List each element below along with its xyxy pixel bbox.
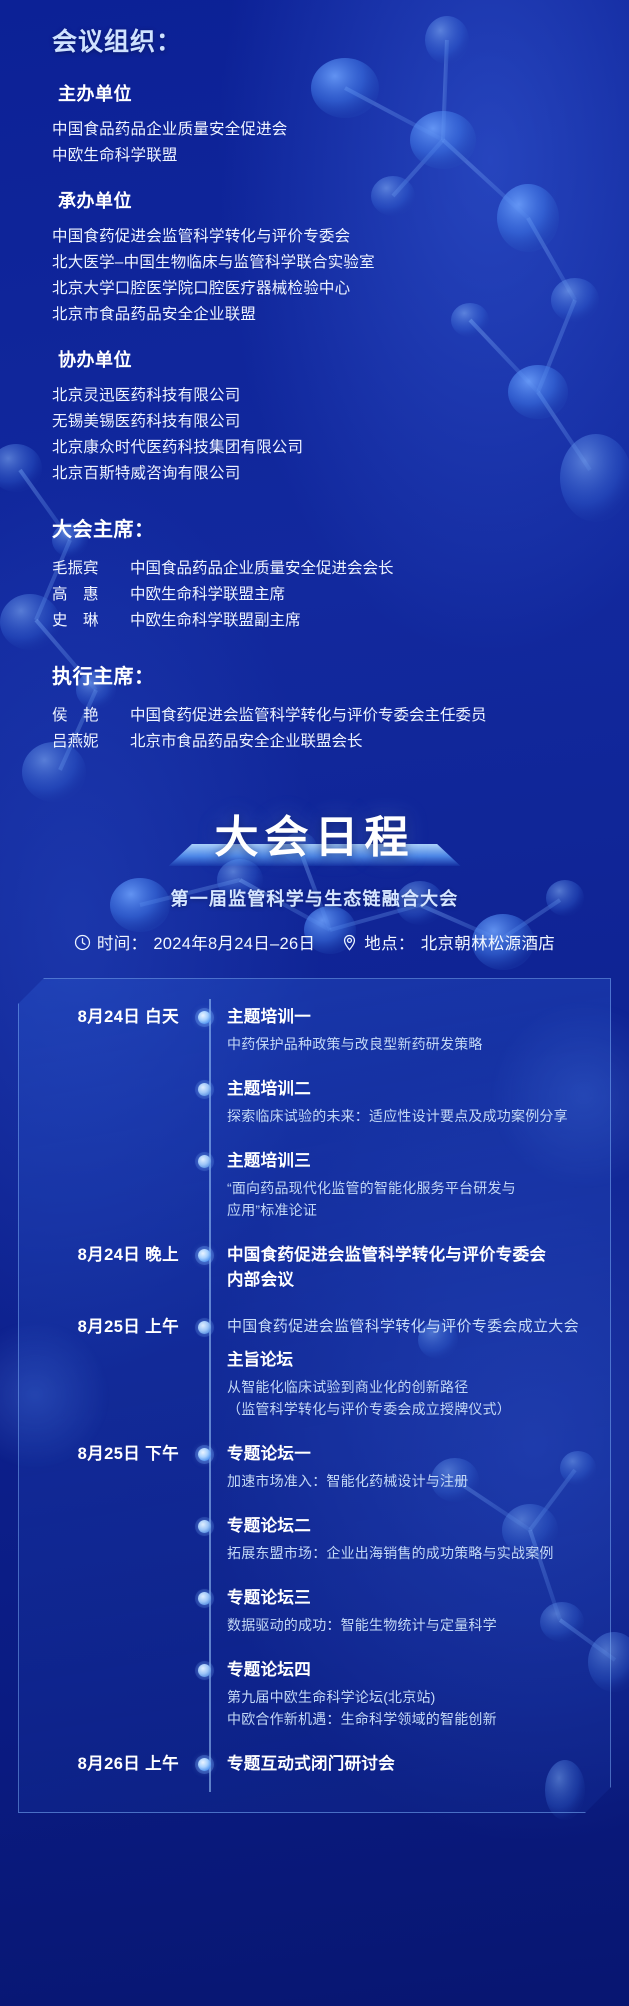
list-item: 北大医学–中国生物临床与监管科学联合实验室 <box>52 250 629 276</box>
list-item: 中欧生命科学联盟 <box>52 143 629 169</box>
timeline-when: 8月26日 上午 <box>19 1752 191 1776</box>
organization-group-organizer: 承办单位 中国食药促进会监管科学转化与评价专委会 北大医学–中国生物临床与监管科… <box>0 187 629 328</box>
timeline-row: 8月25日 上午 中国食药促进会监管科学转化与评价专委会成立大会 主旨论坛 从智… <box>19 1315 594 1420</box>
timeline-body: 专题论坛一 加速市场准入：智能化药械设计与注册 <box>217 1442 594 1492</box>
location-pin-icon <box>341 934 358 951</box>
timeline-topic: 主题培训二 <box>227 1077 590 1102</box>
schedule-hero-section: 大会日程 第一届监管科学与生态链融合大会 时间： 2024年8月24日–26日 <box>0 813 629 954</box>
timeline-desc: 数据驱动的成功：智能生物统计与定量科学 <box>227 1614 590 1636</box>
timeline-dot-col <box>191 1586 217 1605</box>
timeline-row: 专题论坛四 第九届中欧生命科学论坛(北京站) 中欧合作新机遇：生命科学领域的智能… <box>19 1658 594 1730</box>
timeline-dot-icon <box>198 1083 211 1096</box>
list-item: 北京市食品药品安全企业联盟 <box>52 302 629 328</box>
timeline-dot-icon <box>198 1448 211 1461</box>
organization-list-host: 中国食品药品企业质量安全促进会 中欧生命科学联盟 <box>52 117 629 169</box>
timeline-desc: （监管科学转化与评价专委会成立授牌仪式） <box>227 1398 590 1420</box>
timeline-body: 主题培训一 中药保护品种政策与改良型新药研发策略 <box>217 1005 594 1055</box>
conference-chairs-heading: 大会主席： <box>52 513 629 542</box>
schedule-timeline-card: 8月24日 白天 主题培训一 中药保护品种政策与改良型新药研发策略 主题培训二 … <box>18 978 611 1813</box>
chair-role: 北京市食品药品安全企业联盟会长 <box>130 729 629 755</box>
timeline-topic: 主题培训一 <box>227 1005 590 1030</box>
chair-role: 中欧生命科学联盟副主席 <box>130 608 629 634</box>
list-item: 北京康众时代医药科技集团有限公司 <box>52 435 629 461</box>
timeline-when: 8月24日 白天 <box>19 1005 191 1029</box>
schedule-place-value: 北京朝林松源酒店 <box>421 930 555 954</box>
timeline-desc: 探索临床试验的未来：适应性设计要点及成功案例分享 <box>227 1105 590 1127</box>
chair-role: 中欧生命科学联盟主席 <box>130 582 629 608</box>
timeline-dot-icon <box>198 1011 211 1024</box>
timeline-body: 专题互动式闭门研讨会 <box>217 1752 594 1777</box>
organization-group-coorganizer: 协办单位 北京灵迅医药科技有限公司 无锡美锡医药科技有限公司 北京康众时代医药科… <box>0 346 629 487</box>
timeline-dot-col <box>191 1442 217 1461</box>
poster-content: 会议组织： 主办单位 中国食品药品企业质量安全促进会 中欧生命科学联盟 承办单位… <box>0 0 629 1813</box>
timeline-row: 8月25日 下午 专题论坛一 加速市场准入：智能化药械设计与注册 <box>19 1442 594 1492</box>
chair-row: 吕燕妮 北京市食品药品安全企业联盟会长 <box>52 729 629 755</box>
clock-icon <box>74 934 91 951</box>
timeline-desc: 应用”标准论证 <box>227 1199 590 1221</box>
timeline-topic: 主题培训三 <box>227 1149 590 1174</box>
timeline-row: 8月24日 白天 主题培训一 中药保护品种政策与改良型新药研发策略 <box>19 1005 594 1055</box>
timeline-dot-icon <box>198 1520 211 1533</box>
list-item: 中国食药促进会监管科学转化与评价专委会 <box>52 224 629 250</box>
timeline-desc: 中欧合作新机遇：生命科学领域的智能创新 <box>227 1708 590 1730</box>
timeline-dot-col <box>191 1077 217 1096</box>
timeline-body: 主题培训二 探索临床试验的未来：适应性设计要点及成功案例分享 <box>217 1077 594 1127</box>
timeline-body: 专题论坛二 拓展东盟市场：企业出海销售的成功策略与实战案例 <box>217 1514 594 1564</box>
timeline-desc: 第九届中欧生命科学论坛(北京站) <box>227 1686 590 1708</box>
timeline-row: 8月26日 上午 专题互动式闭门研讨会 <box>19 1752 594 1782</box>
timeline-desc: 中药保护品种政策与改良型新药研发策略 <box>227 1033 590 1055</box>
timeline-row: 专题论坛二 拓展东盟市场：企业出海销售的成功策略与实战案例 <box>19 1514 594 1564</box>
timeline-desc: 加速市场准入：智能化药械设计与注册 <box>227 1470 590 1492</box>
timeline-topic: 专题论坛四 <box>227 1658 590 1683</box>
timeline-topic: 中国食药促进会监管科学转化与评价专委会 内部会议 <box>227 1243 590 1293</box>
schedule-time-label: 时间： <box>97 930 147 954</box>
timeline-when: 8月25日 上午 <box>19 1315 191 1339</box>
timeline-body: 专题论坛三 数据驱动的成功：智能生物统计与定量科学 <box>217 1586 594 1636</box>
timeline-topic: 专题论坛一 <box>227 1442 590 1467</box>
chair-row: 侯 艳 中国食药促进会监管科学转化与评价专委会主任委员 <box>52 703 629 729</box>
timeline-topic: 专题论坛二 <box>227 1514 590 1539</box>
list-item: 无锡美锡医药科技有限公司 <box>52 409 629 435</box>
timeline-dot-col <box>191 1752 217 1771</box>
timeline-dot-col <box>191 1315 217 1334</box>
timeline-sub-heading: 主旨论坛 <box>227 1348 590 1373</box>
chair-row: 高 惠 中欧生命科学联盟主席 <box>52 582 629 608</box>
executive-chairs-heading: 执行主席： <box>52 660 629 689</box>
timeline-dot-col <box>191 1514 217 1533</box>
timeline-body: 中国食药促进会监管科学转化与评价专委会 内部会议 <box>217 1243 594 1293</box>
timeline-dot-icon <box>198 1664 211 1677</box>
hero-title-plate: 大会日程 <box>169 813 461 863</box>
timeline-desc: 从智能化临床试验到商业化的创新路径 <box>227 1376 590 1398</box>
timeline-desc: “面向药品现代化监管的智能化服务平台研发与 <box>227 1177 590 1199</box>
timeline-dot-col <box>191 1243 217 1262</box>
list-item: 北京百斯特威咨询有限公司 <box>52 461 629 487</box>
timeline-dot-col <box>191 1658 217 1677</box>
timeline-body: 中国食药促进会监管科学转化与评价专委会成立大会 主旨论坛 从智能化临床试验到商业… <box>217 1315 594 1420</box>
timeline-topic: 中国食药促进会监管科学转化与评价专委会成立大会 <box>227 1315 590 1339</box>
executive-chairs-section: 执行主席： 侯 艳 中国食药促进会监管科学转化与评价专委会主任委员 吕燕妮 北京… <box>0 660 629 755</box>
organization-group-host: 主办单位 中国食品药品企业质量安全促进会 中欧生命科学联盟 <box>0 80 629 169</box>
timeline-row: 专题论坛三 数据驱动的成功：智能生物统计与定量科学 <box>19 1586 594 1636</box>
schedule-place-label: 地点： <box>364 930 414 954</box>
timeline-body: 专题论坛四 第九届中欧生命科学论坛(北京站) 中欧合作新机遇：生命科学领域的智能… <box>217 1658 594 1730</box>
organization-section: 会议组织： 主办单位 中国食品药品企业质量安全促进会 中欧生命科学联盟 承办单位… <box>0 0 629 487</box>
timeline-when: 8月25日 下午 <box>19 1442 191 1466</box>
schedule-hero-title: 大会日程 <box>215 813 415 863</box>
chair-name: 毛振宾 <box>52 556 130 582</box>
schedule-time-item: 时间： 2024年8月24日–26日 <box>74 930 315 954</box>
organization-list-coorganizer: 北京灵迅医药科技有限公司 无锡美锡医药科技有限公司 北京康众时代医药科技集团有限… <box>52 383 629 487</box>
timeline-topic: 专题互动式闭门研讨会 <box>227 1752 590 1777</box>
list-item: 北京灵迅医药科技有限公司 <box>52 383 629 409</box>
organization-list-organizer: 中国食药促进会监管科学转化与评价专委会 北大医学–中国生物临床与监管科学联合实验… <box>52 224 629 328</box>
timeline-dot-icon <box>198 1321 211 1334</box>
schedule-time-value: 2024年8月24日–26日 <box>153 930 315 954</box>
chair-name: 吕燕妮 <box>52 729 130 755</box>
conference-poster: 会议组织： 主办单位 中国食品药品企业质量安全促进会 中欧生命科学联盟 承办单位… <box>0 0 629 2006</box>
organization-group-title: 承办单位 <box>58 187 629 213</box>
timeline-dot-icon <box>198 1758 211 1771</box>
list-item: 中国食品药品企业质量安全促进会 <box>52 117 629 143</box>
conference-chairs-section: 大会主席： 毛振宾 中国食品药品企业质量安全促进会会长 高 惠 中欧生命科学联盟… <box>0 513 629 634</box>
schedule-meta-row: 时间： 2024年8月24日–26日 地点： 北京朝林松源酒店 <box>0 930 629 954</box>
schedule-place-item: 地点： 北京朝林松源酒店 <box>341 930 555 954</box>
chair-row: 史 琳 中欧生命科学联盟副主席 <box>52 608 629 634</box>
timeline-row: 主题培训三 “面向药品现代化监管的智能化服务平台研发与 应用”标准论证 <box>19 1149 594 1221</box>
timeline-dot-icon <box>198 1249 211 1262</box>
timeline-dot-col <box>191 1005 217 1024</box>
timeline-row: 8月24日 晚上 中国食药促进会监管科学转化与评价专委会 内部会议 <box>19 1243 594 1293</box>
organization-group-title: 协办单位 <box>58 346 629 372</box>
chair-name: 侯 艳 <box>52 703 130 729</box>
timeline-dot-col <box>191 1149 217 1168</box>
list-item: 北京大学口腔医学院口腔医疗器械检验中心 <box>52 276 629 302</box>
schedule-subtitle: 第一届监管科学与生态链融合大会 <box>0 885 629 911</box>
timeline-dot-icon <box>198 1592 211 1605</box>
timeline-when: 8月24日 晚上 <box>19 1243 191 1267</box>
chair-row: 毛振宾 中国食品药品企业质量安全促进会会长 <box>52 556 629 582</box>
chair-role: 中国食药促进会监管科学转化与评价专委会主任委员 <box>130 703 629 729</box>
chair-name: 高 惠 <box>52 582 130 608</box>
timeline-desc: 拓展东盟市场：企业出海销售的成功策略与实战案例 <box>227 1542 590 1564</box>
chair-role: 中国食品药品企业质量安全促进会会长 <box>130 556 629 582</box>
timeline-body: 主题培训三 “面向药品现代化监管的智能化服务平台研发与 应用”标准论证 <box>217 1149 594 1221</box>
timeline-row: 主题培训二 探索临床试验的未来：适应性设计要点及成功案例分享 <box>19 1077 594 1127</box>
chair-name: 史 琳 <box>52 608 130 634</box>
organization-group-title: 主办单位 <box>58 80 629 106</box>
timeline-dot-icon <box>198 1155 211 1168</box>
timeline-topic: 专题论坛三 <box>227 1586 590 1611</box>
page-title: 会议组织： <box>52 22 629 58</box>
